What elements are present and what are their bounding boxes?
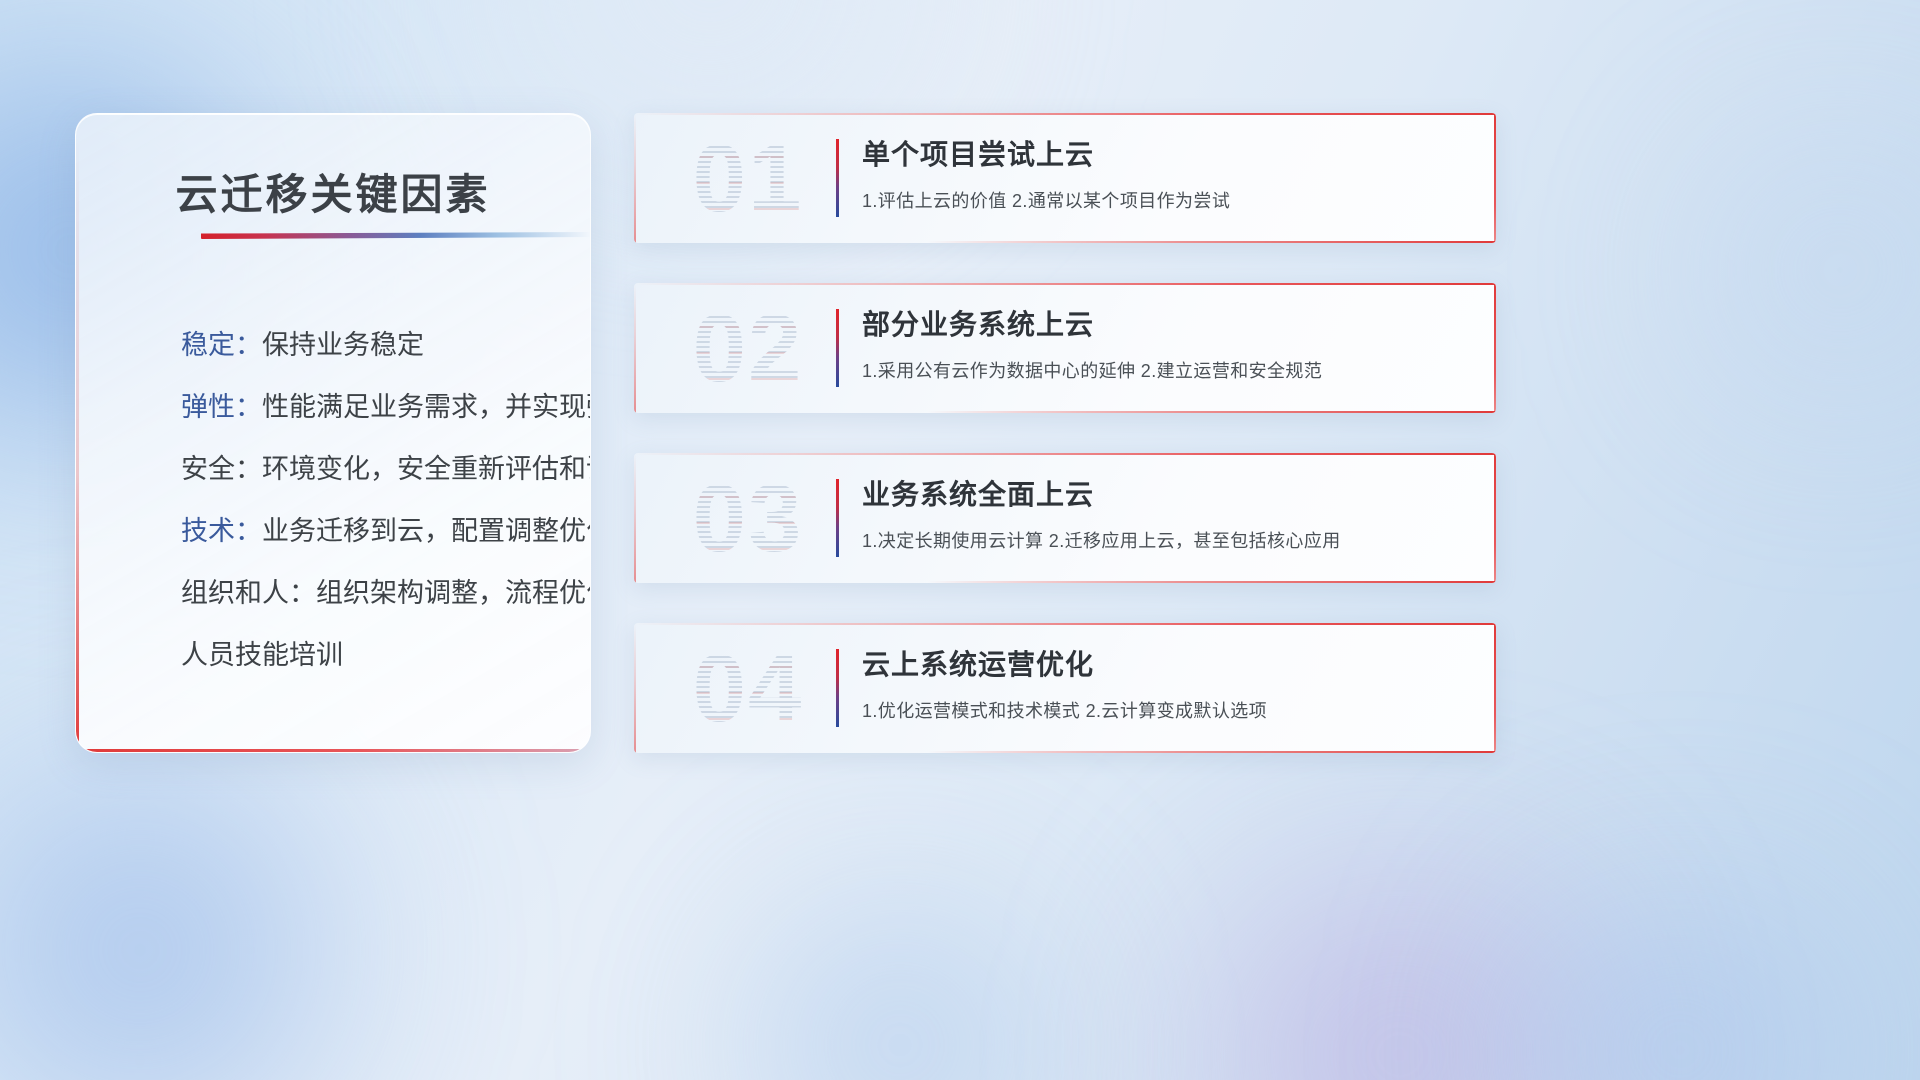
factor-label: 技术：	[181, 516, 262, 546]
factor-row: 安全：环境变化，安全重新评估和评审	[181, 438, 562, 500]
card-border-bottom	[927, 751, 1496, 753]
card-title: 业务系统全面上云	[862, 473, 1474, 513]
factor-text: 性能满足业务需求，并实现弹性	[262, 392, 591, 422]
card-border-top	[634, 113, 1496, 115]
card-text-block: 云上系统运营优化1.优化运营模式和技术模式 2.云计算变成默认选项	[862, 643, 1474, 723]
factor-text: 组织架构调整，流程优化，	[316, 578, 591, 608]
card-border-bottom	[927, 411, 1496, 413]
card-description: 1.评估上云的价值 2.通常以某个项目作为尝试	[862, 187, 1474, 213]
card-border-right	[1494, 283, 1496, 413]
card-description: 1.优化运营模式和技术模式 2.云计算变成默认选项	[862, 697, 1474, 723]
factor-label: 安全：	[181, 454, 262, 484]
factor-row: 组织和人：组织架构调整，流程优化，	[181, 562, 562, 624]
card-border-bottom	[927, 581, 1496, 583]
card-text-block: 单个项目尝试上云1.评估上云的价值 2.通常以某个项目作为尝试	[862, 133, 1474, 213]
card-description: 1.采用公有云作为数据中心的延伸 2.建立运营和安全规范	[862, 357, 1474, 383]
card-accent-bar	[836, 309, 839, 387]
key-factors-panel: 云迁移关键因素 稳定：保持业务稳定弹性：性能满足业务需求，并实现弹性安全：环境变…	[75, 113, 591, 753]
card-border-top	[634, 623, 1496, 625]
card-text-block: 业务系统全面上云1.决定长期使用云计算 2.迁移应用上云，甚至包括核心应用	[862, 473, 1474, 553]
card-border-bottom	[927, 241, 1496, 243]
factor-label: 弹性：	[181, 392, 262, 422]
card-border-top	[634, 453, 1496, 455]
factor-label: 稳定：	[181, 330, 262, 360]
card-description: 1.决定长期使用云计算 2.迁移应用上云，甚至包括核心应用	[862, 527, 1474, 553]
card-border-top	[634, 283, 1496, 285]
factor-row: 人员技能培训	[181, 624, 562, 686]
stage-number-watermark-tint: 02	[658, 291, 838, 407]
factor-text: 人员技能培训	[181, 640, 343, 670]
stage-number-watermark-tint: 04	[658, 631, 838, 747]
card-border-right	[1494, 113, 1496, 243]
migration-stage-card[interactable]: 0303业务系统全面上云1.决定长期使用云计算 2.迁移应用上云，甚至包括核心应…	[634, 453, 1496, 583]
card-text-block: 部分业务系统上云1.采用公有云作为数据中心的延伸 2.建立运营和安全规范	[862, 303, 1474, 383]
factor-list: 稳定：保持业务稳定弹性：性能满足业务需求，并实现弹性安全：环境变化，安全重新评估…	[181, 314, 562, 686]
factor-text: 保持业务稳定	[262, 330, 424, 360]
factor-text: 业务迁移到云，配置调整优化	[262, 516, 591, 546]
stage-number-watermark-tint: 03	[658, 461, 838, 577]
card-border-right	[1494, 453, 1496, 583]
factor-label: 组织和人：	[181, 578, 316, 608]
card-accent-bar	[836, 139, 839, 217]
title-underline-accent	[201, 232, 591, 239]
page-title: 云迁移关键因素	[76, 161, 590, 222]
factor-row: 弹性：性能满足业务需求，并实现弹性	[181, 376, 562, 438]
migration-stage-card[interactable]: 0101单个项目尝试上云1.评估上云的价值 2.通常以某个项目作为尝试	[634, 113, 1496, 243]
card-title: 云上系统运营优化	[862, 643, 1474, 683]
card-title: 单个项目尝试上云	[862, 133, 1474, 173]
migration-stage-card[interactable]: 0404云上系统运营优化1.优化运营模式和技术模式 2.云计算变成默认选项	[634, 623, 1496, 753]
card-accent-bar	[836, 479, 839, 557]
card-title: 部分业务系统上云	[862, 303, 1474, 343]
factor-row: 技术：业务迁移到云，配置调整优化	[181, 500, 562, 562]
stage-number-watermark-tint: 01	[658, 121, 838, 237]
card-border-right	[1494, 623, 1496, 753]
card-accent-bar	[836, 649, 839, 727]
factor-text: 环境变化，安全重新评估和评审	[262, 454, 591, 484]
migration-stage-card-list: 0101单个项目尝试上云1.评估上云的价值 2.通常以某个项目作为尝试0202部…	[634, 113, 1496, 793]
migration-stage-card[interactable]: 0202部分业务系统上云1.采用公有云作为数据中心的延伸 2.建立运营和安全规范	[634, 283, 1496, 413]
factor-row: 稳定：保持业务稳定	[181, 314, 562, 376]
